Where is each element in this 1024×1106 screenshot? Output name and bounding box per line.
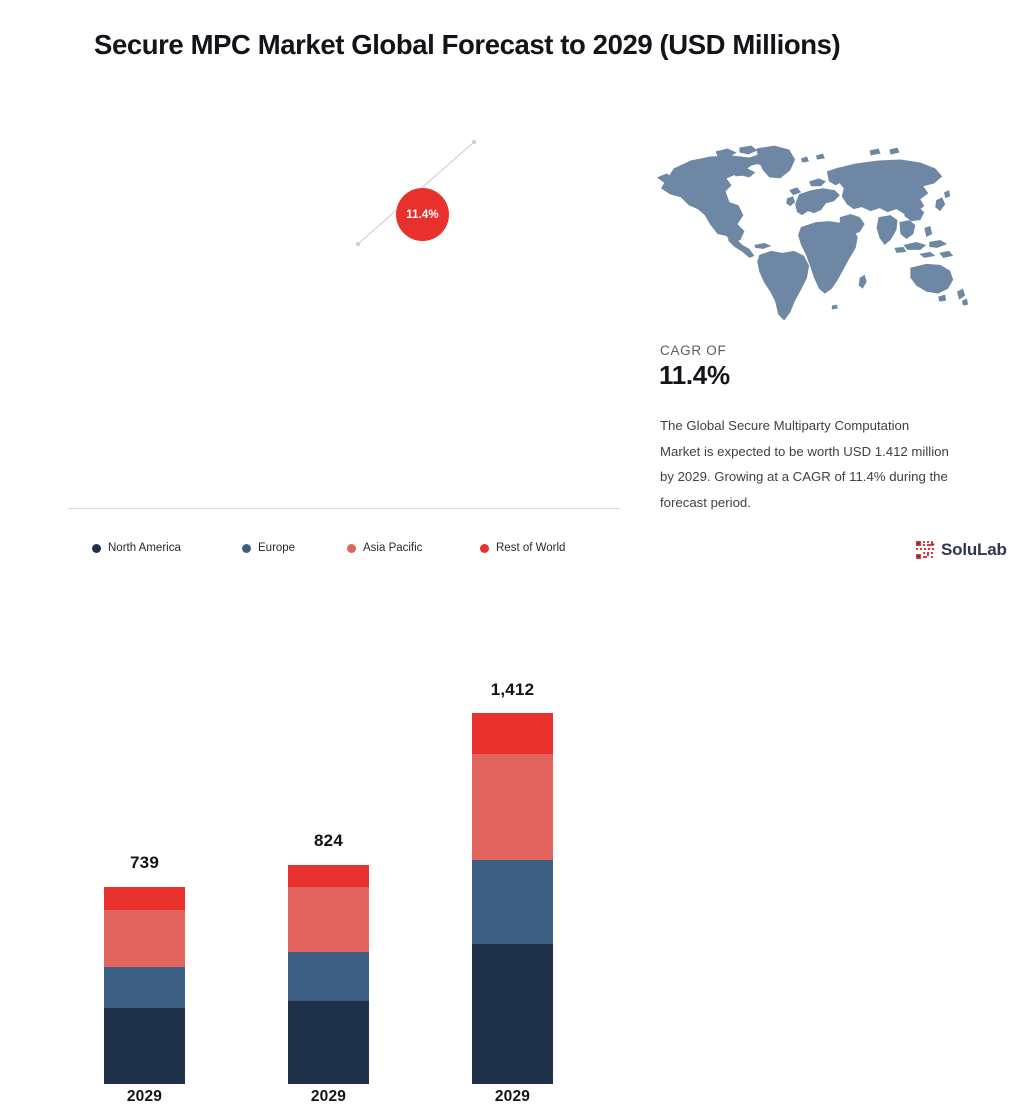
legend-label: Europe (258, 542, 295, 554)
stacked-bar-chart: 739 2029 824 2029 1,412 (0, 0, 620, 576)
bar-segment-asia-pacific-2[interactable] (288, 887, 369, 952)
solulab-logo-text: SoluLab (941, 540, 1007, 560)
bar-segment-rest-of-world-1[interactable] (104, 887, 185, 910)
cagr-value: 11.4% (659, 360, 730, 391)
bar-segment-north-america-3[interactable] (472, 944, 553, 1084)
bar-stack-3[interactable] (472, 713, 553, 1084)
cagr-callout-badge-label: 11.4% (406, 209, 438, 221)
bar-x-label-3: 2029 (443, 1088, 583, 1106)
bar-segment-north-america-1[interactable] (104, 1008, 185, 1084)
cagr-callout-badge[interactable]: 11.4% (396, 188, 449, 241)
panel-description: The Global Secure Multiparty Computation… (660, 413, 952, 516)
bar-segment-north-america-2[interactable] (288, 1001, 369, 1084)
bar-segment-asia-pacific-1[interactable] (104, 910, 185, 967)
infographic-canvas: Secure MPC Market Global Forecast to 202… (0, 0, 1024, 576)
legend-item-europe[interactable]: Europe (242, 542, 295, 554)
legend-label: North America (108, 542, 181, 554)
legend-label: Asia Pacific (363, 542, 422, 554)
bar-segment-asia-pacific-3[interactable] (472, 754, 553, 860)
bar-segment-europe-2[interactable] (288, 952, 369, 1001)
bar-x-label-2: 2029 (259, 1088, 399, 1106)
bar-total-label-2: 824 (259, 831, 399, 851)
legend-item-north-america[interactable]: North America (92, 542, 181, 554)
legend-item-asia-pacific[interactable]: Asia Pacific (347, 542, 422, 554)
cagr-label: CAGR OF (660, 343, 726, 358)
bar-segment-rest-of-world-2[interactable] (288, 865, 369, 887)
bar-segment-europe-3[interactable] (472, 860, 553, 944)
solulab-logo[interactable]: SoluLab (916, 539, 1007, 561)
bar-x-label-1: 2029 (75, 1088, 215, 1106)
chart-baseline-axis (68, 508, 620, 509)
bar-segment-rest-of-world-3[interactable] (472, 713, 553, 754)
legend-label: Rest of World (496, 542, 565, 554)
bar-stack-1[interactable] (104, 887, 185, 1084)
bar-segment-europe-1[interactable] (104, 967, 185, 1008)
solulab-logo-mark-icon (916, 541, 936, 559)
bar-stack-2[interactable] (288, 865, 369, 1084)
chart-legend: North America Europe Asia Pacific Rest o… (92, 542, 592, 560)
legend-swatch-icon (242, 544, 251, 553)
legend-swatch-icon (480, 544, 489, 553)
legend-swatch-icon (347, 544, 356, 553)
legend-item-rest-of-world[interactable]: Rest of World (480, 542, 565, 554)
bar-total-label-3: 1,412 (443, 680, 583, 700)
world-map-icon (652, 142, 970, 328)
bar-total-label-1: 739 (75, 853, 215, 873)
legend-swatch-icon (92, 544, 101, 553)
world-map-illustration (652, 142, 970, 328)
